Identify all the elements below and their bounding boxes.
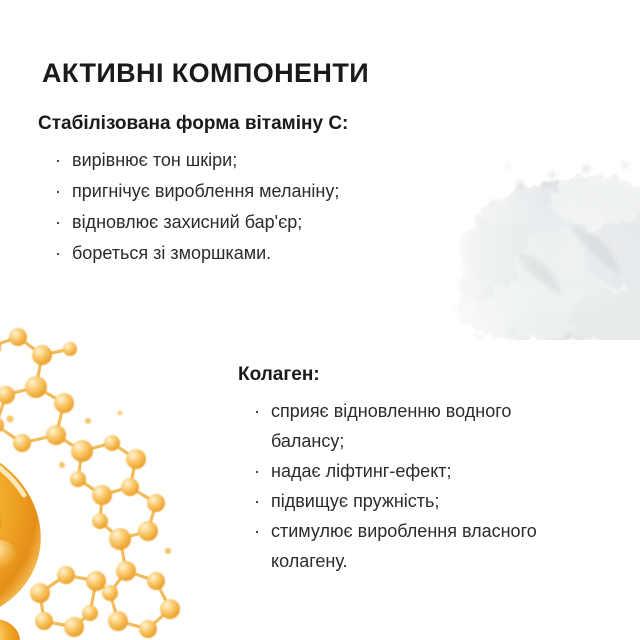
list-item-label: вирівнює тон шкіри;	[72, 150, 237, 170]
section-heading-collagen: Колаген:	[238, 363, 548, 387]
bullet-dot-icon: ·	[254, 516, 260, 546]
bullet-list-vitamin-c: · вирівнює тон шкіри; · пригнічує виробл…	[38, 145, 468, 269]
list-item: · надає ліфтинг-ефект;	[238, 456, 548, 486]
list-item-label: стимулює вироблення власного колагену.	[271, 521, 537, 571]
bullet-dot-icon: ·	[55, 176, 61, 207]
page-title: АКТИВНІ КОМПОНЕНТИ	[42, 58, 369, 89]
list-item-label: підвищує пружність;	[271, 491, 439, 511]
list-item: · стимулює вироблення власного колагену.	[238, 516, 548, 576]
bullet-list-collagen: · сприяє відновленню водного балансу; · …	[238, 396, 548, 576]
bullet-dot-icon: ·	[55, 145, 61, 176]
list-item-label: сприяє відновленню водного балансу;	[271, 401, 511, 451]
list-item-label: пригнічує вироблення меланіну;	[72, 181, 339, 201]
list-item: · вирівнює тон шкіри;	[38, 145, 468, 176]
list-item: · сприяє відновленню водного балансу;	[238, 396, 548, 456]
bullet-dot-icon: ·	[254, 396, 260, 426]
section-vitamin-c: Стабілізована форма вітаміну С: · вирівн…	[38, 112, 468, 269]
poster-content: АКТИВНІ КОМПОНЕНТИ Стабілізована форма в…	[0, 0, 640, 640]
list-item: · бореться зі зморшками.	[38, 238, 468, 269]
poster-canvas: АКТИВНІ КОМПОНЕНТИ Стабілізована форма в…	[0, 0, 640, 640]
bullet-dot-icon: ·	[254, 486, 260, 516]
bullet-dot-icon: ·	[55, 238, 61, 269]
list-item-label: надає ліфтинг-ефект;	[271, 461, 452, 481]
section-collagen: Колаген: · сприяє відновленню водного ба…	[238, 363, 548, 576]
list-item: · підвищує пружність;	[238, 486, 548, 516]
section-heading-vitamin-c: Стабілізована форма вітаміну С:	[38, 112, 468, 136]
list-item-label: відновлює захисний бар'єр;	[72, 212, 302, 232]
list-item-label: бореться зі зморшками.	[72, 243, 271, 263]
bullet-dot-icon: ·	[254, 456, 260, 486]
bullet-dot-icon: ·	[55, 207, 61, 238]
list-item: · відновлює захисний бар'єр;	[38, 207, 468, 238]
list-item: · пригнічує вироблення меланіну;	[38, 176, 468, 207]
